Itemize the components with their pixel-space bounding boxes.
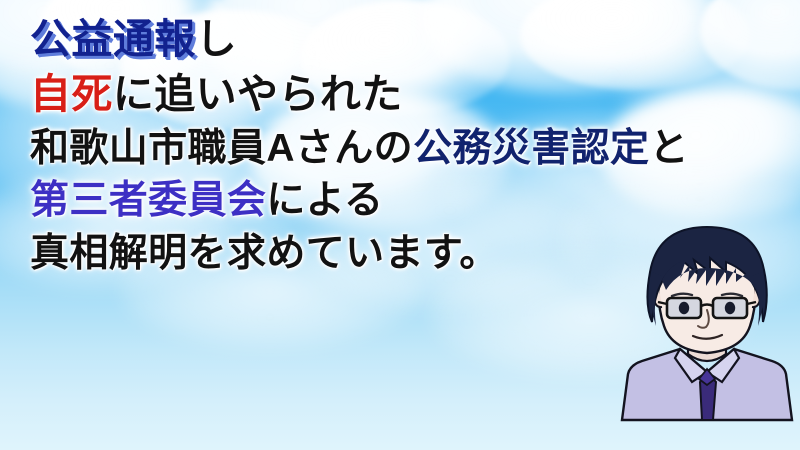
headline-line-2: 自死に追いやられた — [30, 73, 630, 116]
headline-line-4: 第三者委員会による — [30, 180, 630, 221]
headline-line-4-segment-2: による — [266, 179, 383, 222]
eye-right — [725, 302, 735, 314]
headline-line-4-segment-1: 第三者委員会 — [30, 179, 266, 222]
slide-canvas: 公益通報し 自死に追いやられた 和歌山市職員Aさんの公務災害認定と 第三者委員会… — [0, 0, 800, 450]
headline-line-1-segment-2: し — [196, 16, 237, 62]
headline-block: 公益通報し 自死に追いやられた 和歌山市職員Aさんの公務災害認定と 第三者委員会… — [30, 18, 630, 274]
person-illustration — [614, 222, 800, 428]
headline-line-3: 和歌山市職員Aさんの公務災害認定と — [30, 128, 630, 169]
headline-line-3-segment-2: 公務災害認定 — [413, 127, 649, 170]
man-with-glasses-icon — [614, 222, 800, 428]
headline-line-5: 真相解明を求めています。 — [30, 233, 630, 274]
cloud — [700, 0, 800, 90]
headline-line-3-segment-3: と — [649, 127, 688, 170]
headline-line-3-segment-1: 和歌山市職員Aさんの — [30, 127, 413, 170]
headline-line-5-segment-1: 真相解明を求めています。 — [30, 232, 499, 275]
headline-line-2-segment-1: 自死 — [30, 71, 113, 117]
eye-left — [679, 302, 689, 314]
headline-line-2-segment-2: に追いやられた — [113, 71, 403, 117]
headline-line-1: 公益通報し — [30, 18, 630, 61]
headline-line-1-segment-1: 公益通報 — [30, 16, 196, 62]
